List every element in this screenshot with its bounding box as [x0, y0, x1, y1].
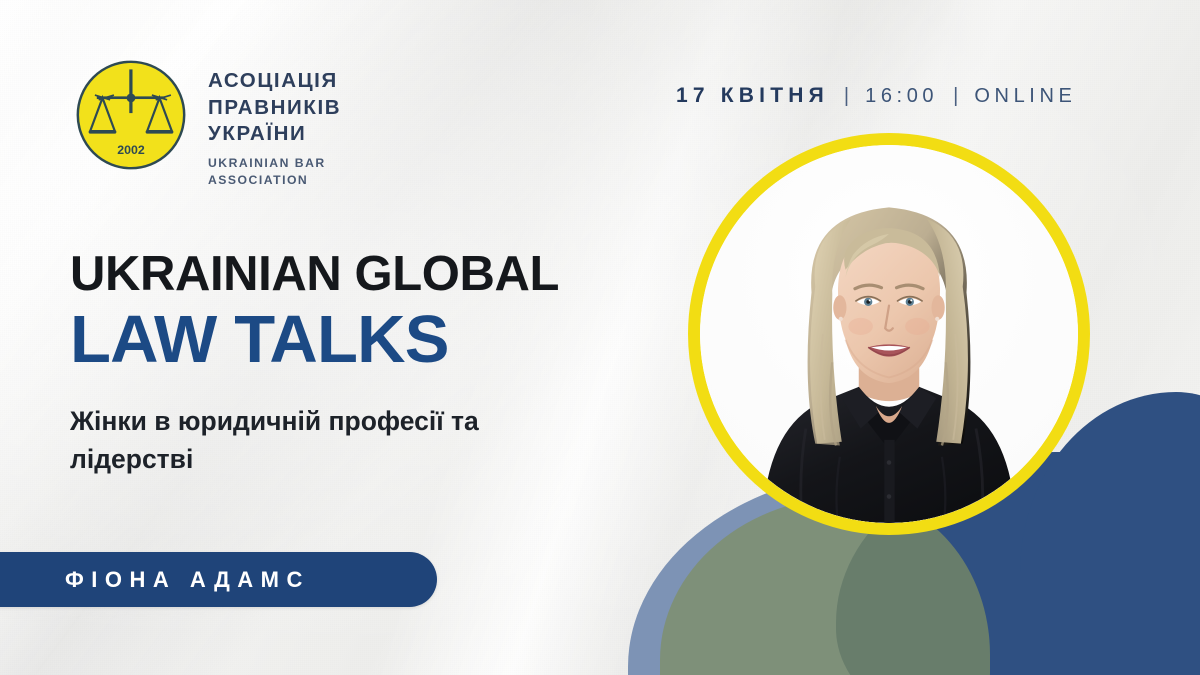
separator-2: |	[938, 85, 974, 108]
event-format: ONLINE	[974, 85, 1076, 108]
logo-sub-1: UKRAINIAN BAR	[208, 155, 341, 172]
logo-line-2: ПРАВНИКІВ	[208, 95, 341, 122]
logo-year: 2002	[117, 143, 145, 157]
speaker-name: ФІОНА АДАМС	[0, 567, 310, 593]
logo-wordmark: АСОЦІАЦІЯ ПРАВНИКІВ УКРАЇНИ UKRAINIAN BA…	[208, 58, 341, 190]
event-date: 17 КВІТНЯ	[676, 84, 829, 108]
speaker-portrait	[700, 145, 1078, 523]
speaker-name-badge: ФІОНА АДАМС	[0, 552, 437, 607]
page-subtitle: Жінки в юридичній професії та лідерстві	[70, 403, 600, 478]
logo-line-1: АСОЦІАЦІЯ	[208, 68, 341, 95]
event-time: 16:00	[865, 85, 938, 108]
separator-1: |	[829, 85, 865, 108]
speaker-portrait-ring	[688, 133, 1090, 535]
logo-sub-2: ASSOCIATION	[208, 172, 341, 189]
event-poster: 2002 АСОЦІАЦІЯ ПРАВНИКІВ УКРАЇНИ UKRAINI…	[0, 0, 1200, 675]
page-title: UKRAINIAN GLOBAL LAW TALKS	[70, 250, 559, 373]
title-line-1: UKRAINIAN GLOBAL	[70, 250, 559, 299]
speaker-photo-illustration	[700, 145, 1078, 523]
event-datetime-bar: 17 КВІТНЯ | 16:00 | ONLINE	[676, 84, 1076, 108]
logo-line-3: УКРАЇНИ	[208, 121, 341, 148]
ukrainian-bar-association-logo: 2002 АСОЦІАЦІЯ ПРАВНИКІВ УКРАЇНИ UKRAINI…	[74, 58, 341, 190]
title-line-2: LAW TALKS	[70, 306, 559, 373]
scales-of-justice-icon: 2002	[74, 58, 188, 172]
